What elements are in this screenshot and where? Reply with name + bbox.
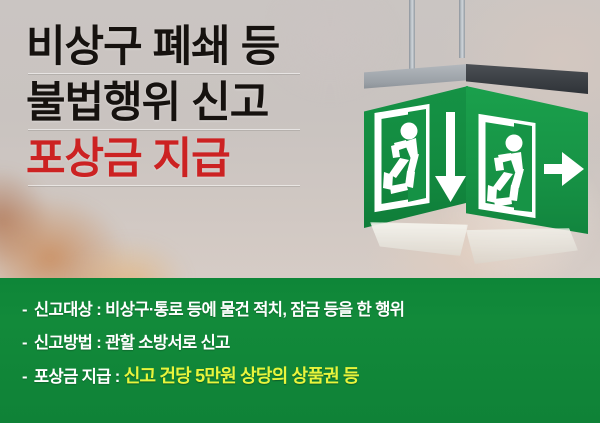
- headline-line-2-text: 불법행위 신고: [26, 79, 268, 127]
- bullet-dash: -: [22, 368, 27, 387]
- info-separator: :: [92, 334, 105, 353]
- headline-line-1-text: 비상구 폐쇄 등: [26, 23, 279, 71]
- info-row-reward-payment: - 포상금 지급 : 신고 건당 5만원 상당의 상품권 등: [22, 362, 600, 388]
- exit-sign-body: [362, 50, 590, 240]
- headline-divider-1: [28, 73, 300, 74]
- info-label: 포상금 지급: [34, 363, 111, 387]
- sign-top-cap-right: [466, 64, 588, 94]
- info-row-report-method: - 신고방법 : 관할 소방서로 신고: [22, 329, 600, 353]
- headline-line-1: 비상구 폐쇄 등: [26, 26, 356, 69]
- info-value-highlighted: 신고 건당 5만원 상당의 상품권 등: [124, 362, 359, 388]
- exit-pictogram-right-icon: [466, 86, 588, 234]
- exit-sign-panel-left: [364, 86, 468, 228]
- exit-sign-panel-right: [466, 86, 588, 234]
- sign-diffuser-right: [466, 228, 578, 264]
- info-label: 신고대상: [34, 296, 92, 320]
- info-separator: :: [111, 368, 124, 387]
- emergency-exit-sign-illustration: [352, 0, 600, 278]
- headline-divider-2: [28, 129, 300, 130]
- bullet-dash: -: [22, 301, 27, 320]
- info-label: 신고방법: [34, 329, 92, 353]
- sign-top-cap-left: [364, 64, 468, 92]
- public-safety-banner: 비상구 폐쇄 등 불법행위 신고 포상금 지급: [0, 0, 600, 423]
- sign-diffuser-left: [370, 222, 468, 256]
- headline-line-3-text: 포상금 지급: [26, 135, 230, 183]
- info-row-report-target: - 신고대상 : 비상구·통로 등에 물건 적치, 잠금 등을 한 행위: [22, 296, 600, 320]
- info-value: 관할 소방서로 신고: [105, 329, 230, 353]
- info-band: - 신고대상 : 비상구·통로 등에 물건 적치, 잠금 등을 한 행위 - 신…: [0, 278, 600, 423]
- headline-block: 비상구 폐쇄 등 불법행위 신고 포상금 지급: [26, 26, 356, 181]
- info-value: 비상구·통로 등에 물건 적치, 잠금 등을 한 행위: [105, 296, 404, 320]
- exit-pictogram-left-icon: [364, 86, 468, 228]
- headline-line-2: 불법행위 신고: [26, 82, 356, 125]
- bullet-dash: -: [22, 334, 27, 353]
- headline-line-3-reward: 포상금 지급: [26, 138, 356, 181]
- headline-divider-3: [28, 185, 300, 186]
- info-separator: :: [92, 301, 105, 320]
